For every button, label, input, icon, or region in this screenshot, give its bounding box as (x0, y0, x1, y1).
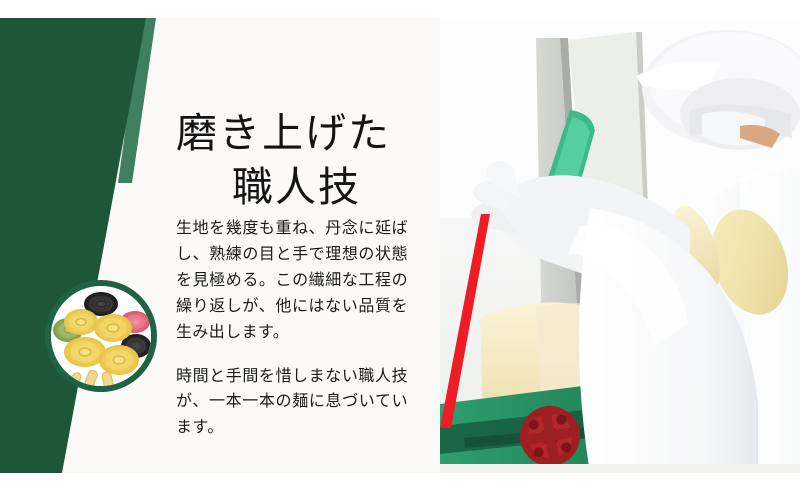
content-band: 磨き上げた 職人技 生地を幾度も重ね、丹念に延ばし、熟練の目と手で理想の状態を見… (0, 18, 800, 473)
factory-photo (440, 18, 800, 473)
page-title: 磨き上げた 職人技 (176, 107, 476, 214)
headline-line-2: 職人技 (176, 161, 476, 214)
pasta-photo-badge (45, 280, 157, 392)
slide-canvas: 磨き上げた 職人技 生地を幾度も重ね、丹念に延ばし、熟練の目と手で理想の状態を見… (0, 0, 800, 495)
body-paragraph-1: 生地を幾度も重ね、丹念に延ばし、熟練の目と手で理想の状態を見極める。この繊細な工… (176, 216, 408, 346)
headline-line-1: 磨き上げた (176, 110, 391, 156)
green-wedge-shape (0, 18, 200, 473)
body-copy: 生地を幾度も重ね、丹念に延ばし、熟練の目と手で理想の状態を見極める。この繊細な工… (176, 216, 408, 441)
green-main-shape (0, 18, 146, 473)
body-paragraph-2: 時間と手間を惜しまない職人技が、一本一本の麺に息づいています。 (176, 364, 408, 442)
